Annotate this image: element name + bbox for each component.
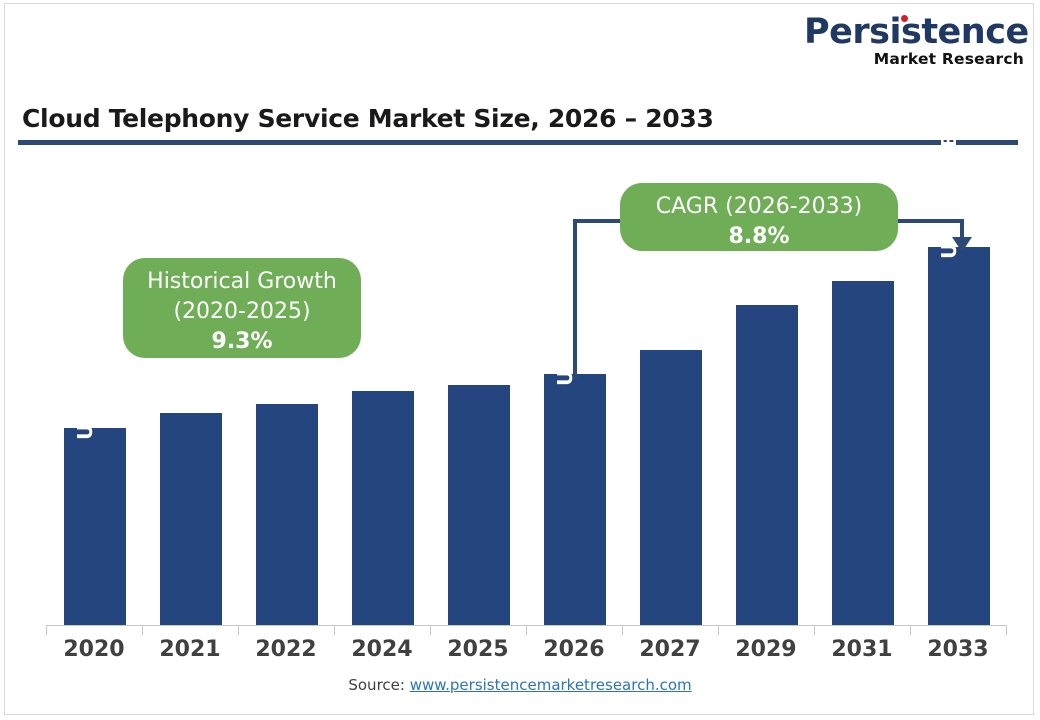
x-axis-label-2024: 2024 bbox=[334, 637, 430, 662]
page-title: Cloud Telephony Service Market Size, 202… bbox=[22, 104, 714, 133]
historical-growth-title: Historical Growth bbox=[123, 267, 361, 297]
x-axis-label-2033: 2033 bbox=[910, 637, 1006, 662]
x-axis-tick bbox=[334, 625, 335, 635]
x-axis-tick bbox=[142, 625, 143, 635]
x-axis-tick bbox=[430, 625, 431, 635]
bar-2021[interactable] bbox=[160, 413, 222, 625]
x-axis-label-2021: 2021 bbox=[142, 637, 238, 662]
bar-2026[interactable]: US$ 26.8 Bn bbox=[544, 374, 606, 625]
source-note: Source: www.persistencemarketresearch.co… bbox=[0, 676, 1040, 694]
cagr-value: 8.8% bbox=[620, 222, 898, 252]
x-axis-label-2022: 2022 bbox=[238, 637, 334, 662]
x-axis-tick bbox=[238, 625, 239, 635]
x-axis-tick bbox=[814, 625, 815, 635]
bar-2020[interactable]: US$ 15.7 Bn bbox=[64, 428, 126, 625]
source-link[interactable]: www.persistencemarketresearch.com bbox=[410, 676, 692, 694]
x-axis-tick bbox=[46, 625, 47, 635]
x-axis-tick bbox=[718, 625, 719, 635]
bar-value-label-2020: US$ 15.7 Bn bbox=[73, 298, 97, 440]
cagr-connector-vertical-left bbox=[573, 219, 577, 379]
bar-2033[interactable]: US$ 48.4 Bn bbox=[928, 247, 990, 625]
x-axis-label-2025: 2025 bbox=[430, 637, 526, 662]
bar-2029[interactable] bbox=[736, 305, 798, 625]
x-axis-tick bbox=[622, 625, 623, 635]
bar-2024[interactable] bbox=[352, 391, 414, 625]
bar-2025[interactable] bbox=[448, 385, 510, 625]
cagr-callout: CAGR (2026-2033) 8.8% bbox=[620, 183, 898, 251]
historical-growth-period: (2020-2025) bbox=[123, 297, 361, 327]
logo-dot-icon bbox=[901, 15, 908, 22]
chart-page: Persistence Market Research Cloud Teleph… bbox=[0, 0, 1040, 720]
title-underline bbox=[18, 140, 1018, 145]
persistence-market-research-logo: Persistence Market Research bbox=[804, 14, 1024, 70]
bar-2031[interactable] bbox=[832, 281, 894, 625]
logo-wordmark: Persistence bbox=[804, 14, 1024, 50]
x-axis-label-2031: 2031 bbox=[814, 637, 910, 662]
cagr-arrow-icon bbox=[952, 237, 972, 252]
x-axis-tick bbox=[1006, 625, 1007, 635]
x-axis-label-2020: 2020 bbox=[46, 637, 142, 662]
x-axis-tick bbox=[910, 625, 911, 635]
x-axis-label-2026: 2026 bbox=[526, 637, 622, 662]
x-axis-label-2029: 2029 bbox=[718, 637, 814, 662]
bar-2027[interactable] bbox=[640, 350, 702, 625]
logo-tagline: Market Research bbox=[804, 51, 1024, 68]
x-axis-label-2027: 2027 bbox=[622, 637, 718, 662]
historical-growth-callout: Historical Growth (2020-2025) 9.3% bbox=[123, 258, 361, 358]
source-prefix: Source: bbox=[348, 676, 409, 694]
cagr-title: CAGR (2026-2033) bbox=[620, 192, 898, 222]
historical-growth-value: 9.3% bbox=[123, 327, 361, 357]
bar-2022[interactable] bbox=[256, 404, 318, 625]
x-axis-tick bbox=[526, 625, 527, 635]
